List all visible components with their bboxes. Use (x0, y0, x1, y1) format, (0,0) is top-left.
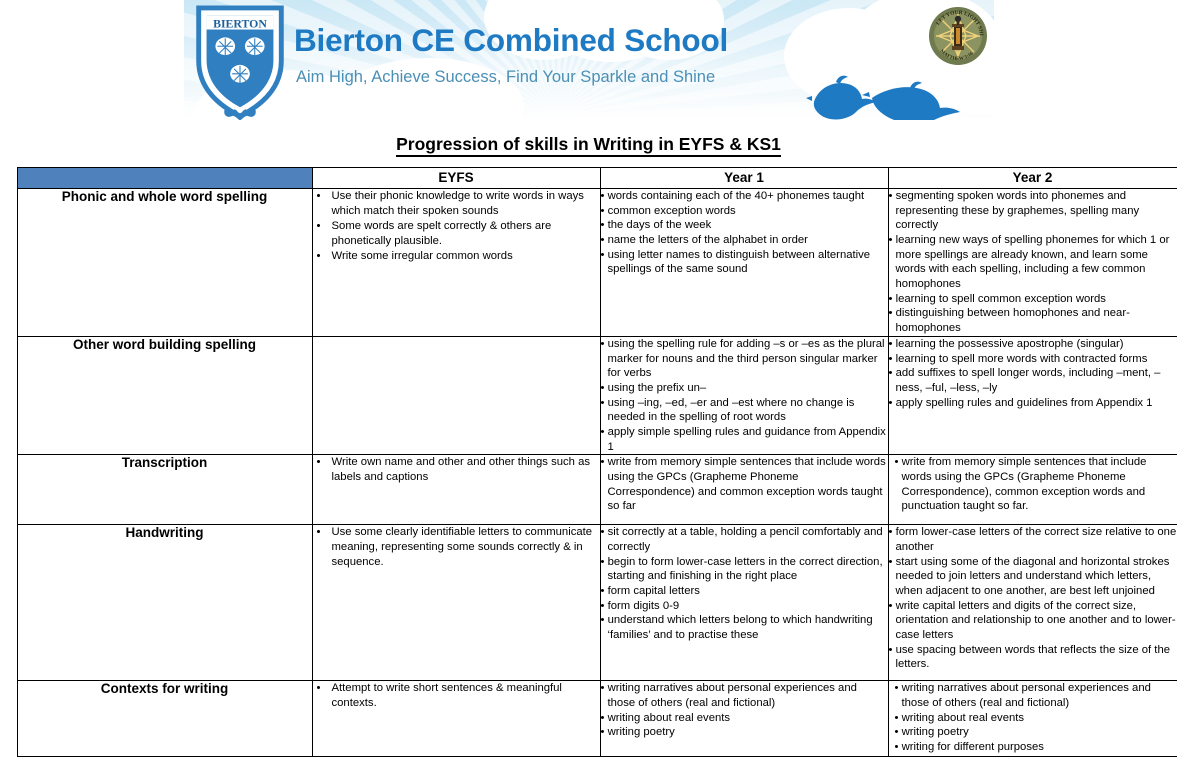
table-header-row: EYFS Year 1 Year 2 (17, 168, 1177, 189)
list-item: add suffixes to spell longer words, incl… (889, 366, 1177, 395)
list-item: name the letters of the alphabet in orde… (601, 233, 888, 248)
table-row: Phonic and whole word spelling Use their… (17, 189, 1177, 337)
cell-year2: learning the possessive apostrophe (sing… (888, 337, 1177, 455)
diocese-lantern-badge-icon: LET YOUR LIGHT SHINE MATTHEW 5:16 (928, 6, 988, 66)
list-item: write from memory simple sentences that … (895, 455, 1177, 514)
list-item: apply simple spelling rules and guidance… (601, 425, 888, 454)
list-item: Write some irregular common words (330, 249, 600, 264)
list-item: distinguishing between homophones and ne… (889, 306, 1177, 335)
school-name: Bierton CE Combined School (294, 22, 728, 59)
list-item: writing poetry (601, 725, 888, 740)
table-header: EYFS Year 1 Year 2 (17, 168, 1177, 189)
list-item: use spacing between words that reflects … (889, 643, 1177, 672)
list-item: the days of the week (601, 218, 888, 233)
table-row: Handwriting Use some clearly identifiabl… (17, 525, 1177, 681)
list-item: common exception words (601, 204, 888, 219)
list-item: learning to spell common exception words (889, 292, 1177, 307)
page-title-text: Progression of skills in Writing in EYFS… (396, 134, 781, 157)
bullet-list: Attempt to write short sentences & meani… (313, 681, 600, 710)
bullet-list: learning the possessive apostrophe (sing… (889, 337, 1177, 410)
table-corner-cell (17, 168, 312, 189)
bullet-list: write from memory simple sentences that … (889, 455, 1177, 514)
list-item: learning to spell more words with contra… (889, 352, 1177, 367)
list-item: Write own name and other and other thing… (330, 455, 600, 484)
list-item: writing about real events (895, 711, 1177, 726)
list-item: writing poetry (895, 725, 1177, 740)
table-row: Transcription Write own name and other a… (17, 455, 1177, 525)
skill-label: Handwriting (17, 525, 312, 681)
list-item: writing for different purposes (895, 740, 1177, 755)
bullet-list: sit correctly at a table, holding a penc… (601, 525, 888, 642)
list-item: learning the possessive apostrophe (sing… (889, 337, 1177, 352)
list-item: form capital letters (601, 584, 888, 599)
list-item: Some words are spelt correctly & others … (330, 219, 600, 248)
skill-label: Phonic and whole word spelling (17, 189, 312, 337)
progression-of-skills-table: EYFS Year 1 Year 2 Phonic and whole word… (17, 167, 1177, 757)
cell-year2: writing narratives about personal experi… (888, 681, 1177, 757)
bullet-list: words containing each of the 40+ phoneme… (601, 189, 888, 277)
list-item: start using some of the diagonal and hor… (889, 555, 1177, 599)
crest-text: BIERTON (213, 17, 267, 31)
table-row: Other word building spelling using the s… (17, 337, 1177, 455)
bullet-list: writing narratives about personal experi… (889, 681, 1177, 754)
list-item: using –ing, –ed, –er and –est where no c… (601, 396, 888, 425)
column-header-year2: Year 2 (888, 168, 1177, 189)
page-header: BIERTON Bierton CE Combined School Aim H… (0, 0, 1177, 122)
list-item: writing about real events (601, 711, 888, 726)
table-body: Phonic and whole word spelling Use their… (17, 189, 1177, 757)
list-item: understand which letters belong to which… (601, 613, 888, 642)
cell-year1: using the spelling rule for adding –s or… (600, 337, 888, 455)
skill-label: Contexts for writing (17, 681, 312, 757)
list-item: Attempt to write short sentences & meani… (330, 681, 600, 710)
bullet-list: writing narratives about personal experi… (601, 681, 888, 740)
cell-year1: write from memory simple sentences that … (600, 455, 888, 525)
bullet-list: segmenting spoken words into phonemes an… (889, 189, 1177, 336)
list-item: apply spelling rules and guidelines from… (889, 396, 1177, 411)
cell-year2: segmenting spoken words into phonemes an… (888, 189, 1177, 337)
list-item: writing narratives about personal experi… (895, 681, 1177, 710)
bullet-list: Write own name and other and other thing… (313, 455, 600, 484)
bullet-list: write from memory simple sentences that … (601, 455, 888, 514)
list-item: writing narratives about personal experi… (601, 681, 888, 710)
cell-eyfs: Use some clearly identifiable letters to… (312, 525, 600, 681)
skills-table-container: EYFS Year 1 Year 2 Phonic and whole word… (9, 167, 1169, 757)
list-item: write capital letters and digits of the … (889, 599, 1177, 643)
list-item: Use their phonic knowledge to write word… (330, 189, 600, 218)
list-item: form digits 0-9 (601, 599, 888, 614)
cell-year1: sit correctly at a table, holding a penc… (600, 525, 888, 681)
list-item: Use some clearly identifiable letters to… (330, 525, 600, 569)
cell-year2: write from memory simple sentences that … (888, 455, 1177, 525)
list-item: segmenting spoken words into phonemes an… (889, 189, 1177, 233)
list-item: learning new ways of spelling phonemes f… (889, 233, 1177, 292)
list-item: using letter names to distinguish betwee… (601, 248, 888, 277)
list-item: sit correctly at a table, holding a penc… (601, 525, 888, 554)
list-item: words containing each of the 40+ phoneme… (601, 189, 888, 204)
two-birds-icon (806, 68, 966, 120)
cell-year2: form lower-case letters of the correct s… (888, 525, 1177, 681)
cell-eyfs (312, 337, 600, 455)
list-item: form lower-case letters of the correct s… (889, 525, 1177, 554)
list-item: write from memory simple sentences that … (601, 455, 888, 514)
school-banner: BIERTON Bierton CE Combined School Aim H… (184, 0, 994, 120)
list-item: using the prefix un– (601, 381, 888, 396)
list-item: begin to form lower-case letters in the … (601, 555, 888, 584)
list-item: using the spelling rule for adding –s or… (601, 337, 888, 381)
skill-label: Other word building spelling (17, 337, 312, 455)
bullet-list: Use some clearly identifiable letters to… (313, 525, 600, 569)
cell-year1: writing narratives about personal experi… (600, 681, 888, 757)
table-row: Contexts for writing Attempt to write sh… (17, 681, 1177, 757)
cell-eyfs: Write own name and other and other thing… (312, 455, 600, 525)
column-header-eyfs: EYFS (312, 168, 600, 189)
skill-label: Transcription (17, 455, 312, 525)
bullet-list: form lower-case letters of the correct s… (889, 525, 1177, 672)
page-title: Progression of skills in Writing in EYFS… (0, 134, 1177, 155)
cell-year1: words containing each of the 40+ phoneme… (600, 189, 888, 337)
bullet-list: using the spelling rule for adding –s or… (601, 337, 888, 454)
cell-eyfs: Use their phonic knowledge to write word… (312, 189, 600, 337)
school-crest-shield-icon: BIERTON (192, 2, 288, 120)
column-header-year1: Year 1 (600, 168, 888, 189)
school-motto: Aim High, Achieve Success, Find Your Spa… (296, 68, 715, 87)
cell-eyfs: Attempt to write short sentences & meani… (312, 681, 600, 757)
bullet-list: Use their phonic knowledge to write word… (313, 189, 600, 264)
